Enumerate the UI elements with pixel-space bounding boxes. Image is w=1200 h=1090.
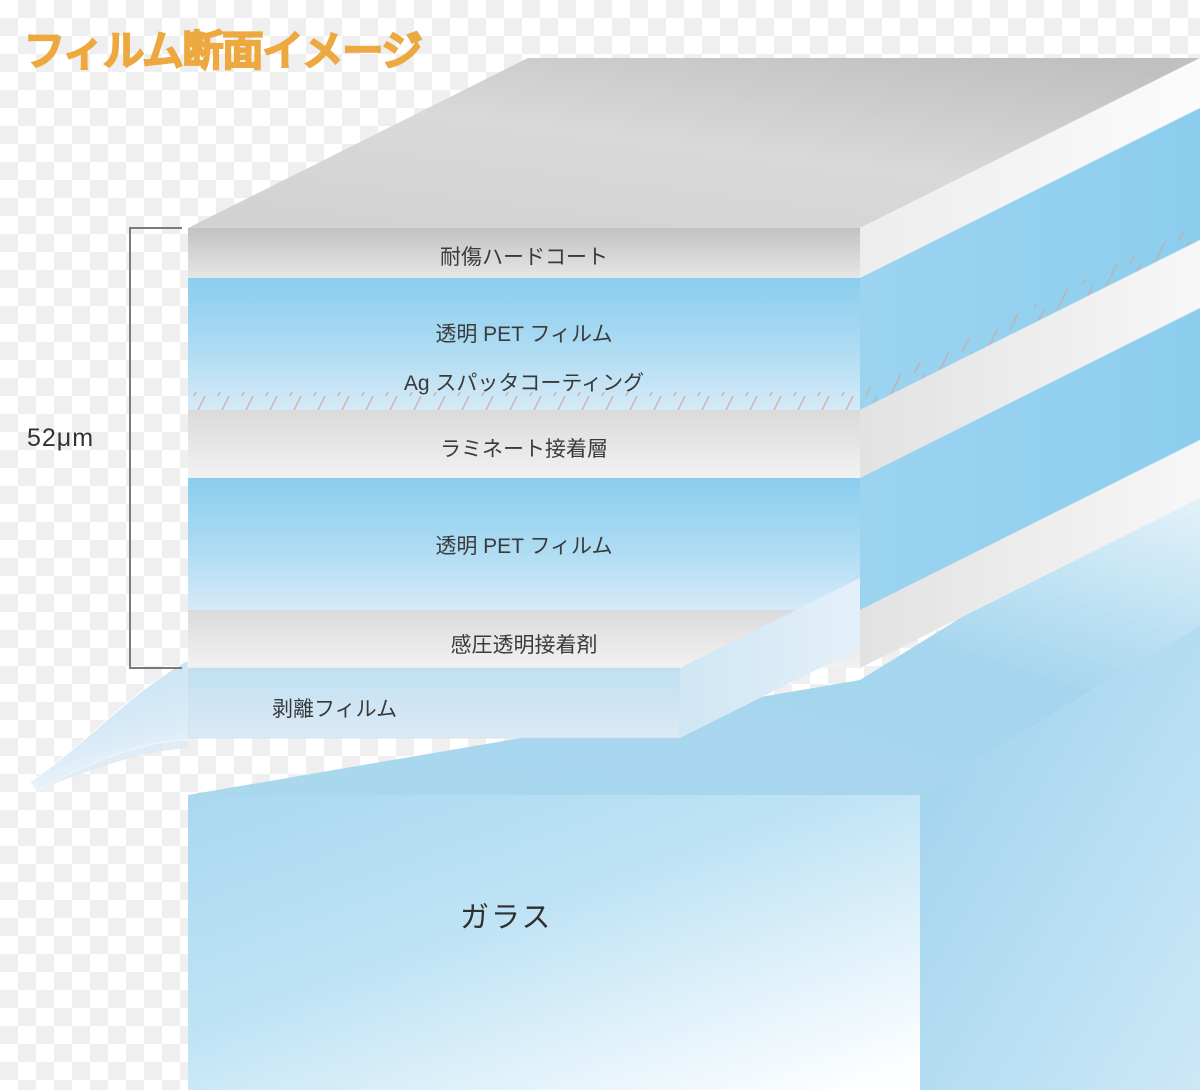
release-film-peel xyxy=(30,660,188,790)
film-cross-section-diagram: フィルム断面イメージ xyxy=(0,0,1200,1090)
label-release-film: 剥離フィルム xyxy=(272,693,397,723)
label-pet-film-upper: 透明 PET フィルム xyxy=(188,318,860,348)
thickness-label: 52μm xyxy=(27,424,94,453)
label-glass: ガラス xyxy=(460,894,552,936)
label-pet-film-lower: 透明 PET フィルム xyxy=(188,530,860,560)
thickness-bracket xyxy=(130,228,182,668)
label-laminate-adhesive: ラミネート接着層 xyxy=(188,433,860,463)
label-psa-adhesive: 感圧透明接着剤 xyxy=(188,629,860,659)
label-ag-sputter: Ag スパッタコーティング xyxy=(188,367,860,397)
label-hard-coat: 耐傷ハードコート xyxy=(188,241,860,271)
